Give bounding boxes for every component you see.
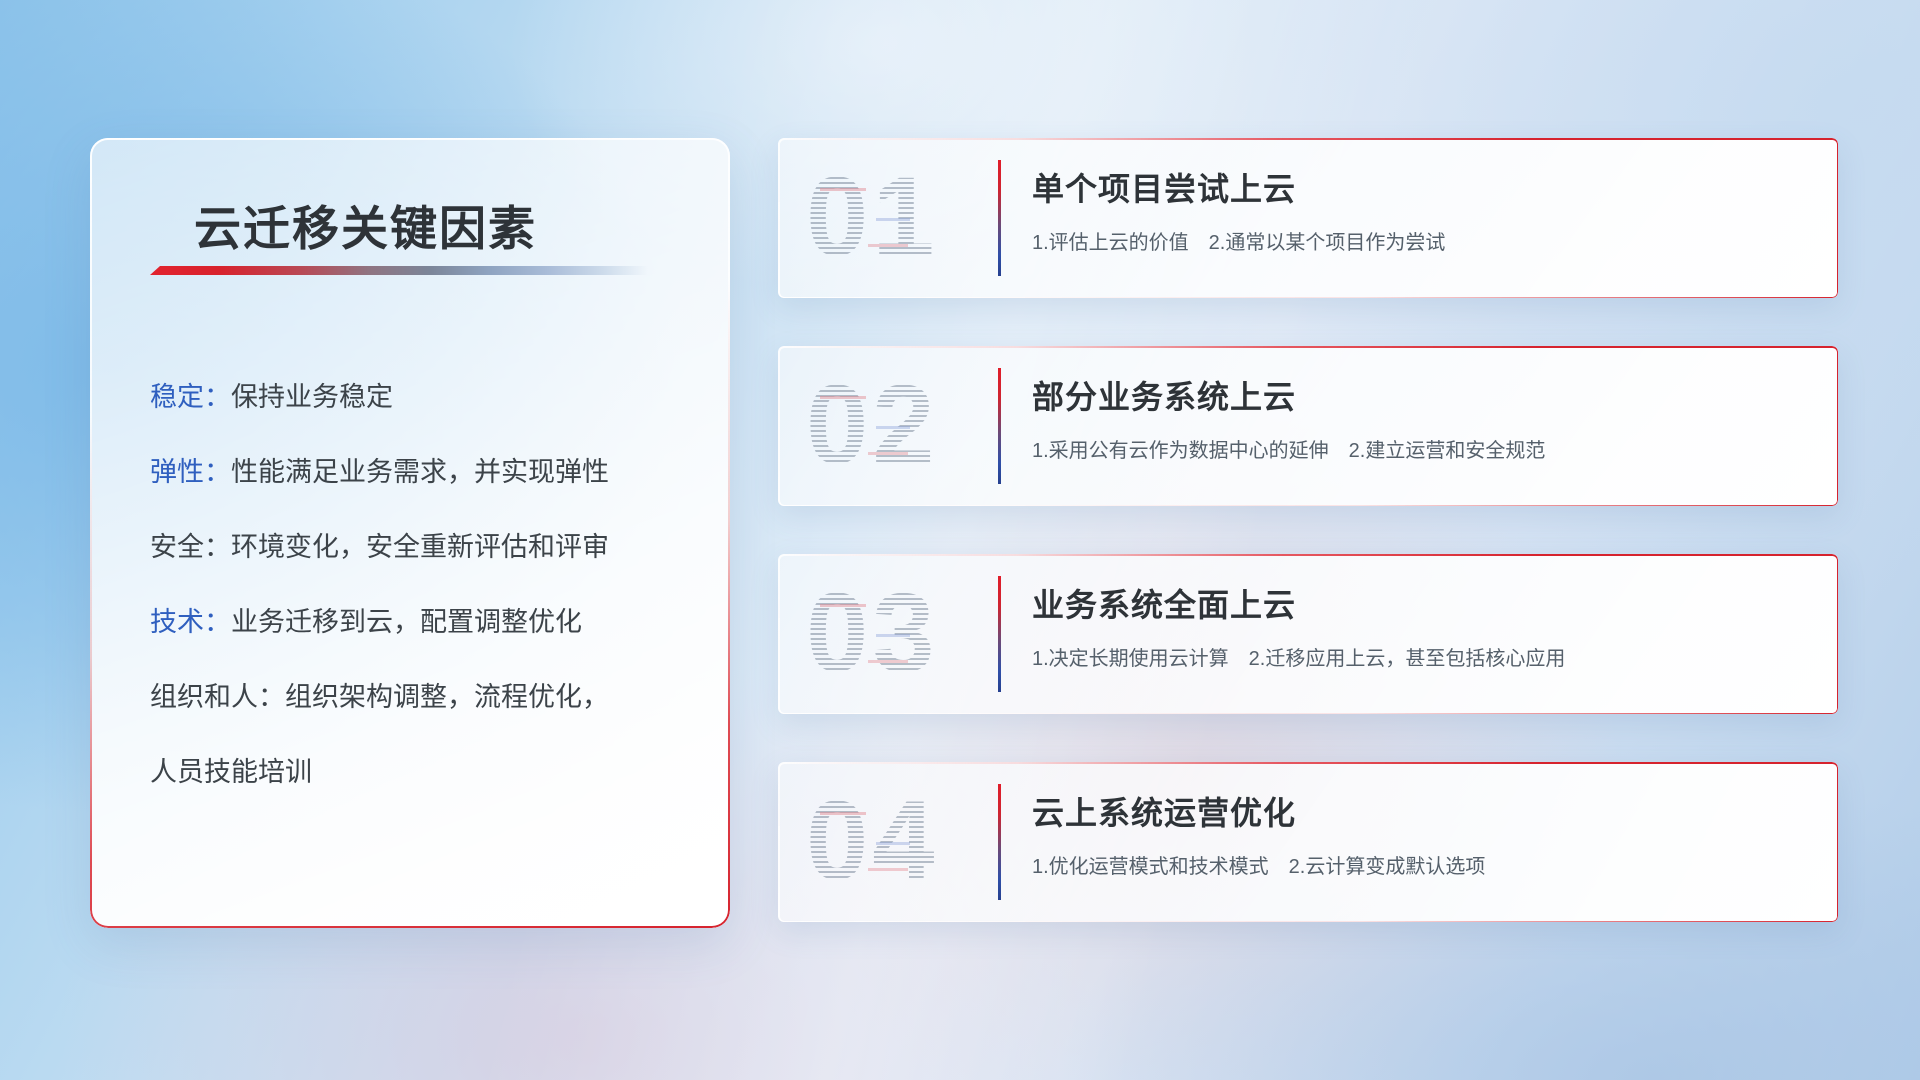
key-factor-text: 性能满足业务需求，并实现弹性 [231, 457, 609, 487]
migration-step-card[interactable]: 03业务系统全面上云1.决定长期使用云计算 2.迁移应用上云，甚至包括核心应用 [778, 554, 1838, 714]
key-factor-label: 弹性： [150, 457, 231, 487]
key-factor-label: 安全： [150, 532, 231, 562]
key-factor-row: 人员技能培训 [150, 735, 680, 810]
key-factor-text: 环境变化，安全重新评估和评审 [231, 532, 609, 562]
key-factor-text: 业务迁移到云，配置调整优化 [231, 607, 582, 637]
step-divider-bar [998, 784, 1001, 900]
step-divider-bar [998, 576, 1001, 692]
step-description: 1.评估上云的价值 2.通常以某个项目作为尝试 [1032, 226, 1445, 255]
watermark-red-glitch-2 [868, 244, 908, 247]
step-divider-bar [998, 368, 1001, 484]
key-factor-label: 稳定： [150, 382, 231, 412]
key-factor-label: 技术： [150, 607, 231, 637]
step-number-text: 03 [806, 568, 939, 698]
step-number-watermark: 03 [806, 568, 982, 698]
title-underline-rule [150, 266, 648, 275]
step-description: 1.决定长期使用云计算 2.迁移应用上云，甚至包括核心应用 [1032, 642, 1565, 671]
key-factors-list: 稳定：保持业务稳定弹性：性能满足业务需求，并实现弹性安全：环境变化，安全重新评估… [150, 360, 680, 810]
migration-step-card[interactable]: 02部分业务系统上云1.采用公有云作为数据中心的延伸 2.建立运营和安全规范 [778, 346, 1838, 506]
step-title: 云上系统运营优化 [1032, 788, 1296, 834]
key-factor-row: 安全：环境变化，安全重新评估和评审 [150, 510, 680, 585]
step-number-watermark: 02 [806, 360, 982, 490]
slide-stage: 云迁移关键因素 稳定：保持业务稳定弹性：性能满足业务需求，并实现弹性安全：环境变… [0, 0, 1920, 1080]
migration-step-card[interactable]: 01单个项目尝试上云1.评估上云的价值 2.通常以某个项目作为尝试 [778, 138, 1838, 298]
page-title: 云迁移关键因素 [194, 190, 537, 259]
migration-step-card[interactable]: 04云上系统运营优化1.优化运营模式和技术模式 2.云计算变成默认选项 [778, 762, 1838, 922]
watermark-red-glitch-2 [868, 452, 908, 455]
migration-steps-list: 01单个项目尝试上云1.评估上云的价值 2.通常以某个项目作为尝试02部分业务系… [778, 138, 1838, 970]
step-number-watermark: 01 [806, 152, 982, 282]
step-number-text: 01 [806, 152, 939, 282]
step-title: 部分业务系统上云 [1032, 372, 1296, 418]
step-number-text: 02 [806, 360, 939, 490]
step-description: 1.优化运营模式和技术模式 2.云计算变成默认选项 [1032, 850, 1485, 879]
step-divider-bar [998, 160, 1001, 276]
step-number-text: 04 [806, 776, 939, 906]
step-number-watermark: 04 [806, 776, 982, 906]
key-factor-label: 组织和人： [150, 682, 285, 712]
step-description: 1.采用公有云作为数据中心的延伸 2.建立运营和安全规范 [1032, 434, 1545, 463]
key-factor-text: 组织架构调整，流程优化， [285, 682, 609, 712]
key-factor-row: 稳定：保持业务稳定 [150, 360, 680, 435]
key-factor-text: 保持业务稳定 [231, 382, 393, 412]
step-title: 单个项目尝试上云 [1032, 164, 1296, 210]
key-factor-row: 技术：业务迁移到云，配置调整优化 [150, 585, 680, 660]
key-factor-row: 弹性：性能满足业务需求，并实现弹性 [150, 435, 680, 510]
key-factor-text: 人员技能培训 [150, 757, 312, 787]
watermark-red-glitch-2 [868, 660, 908, 663]
step-title: 业务系统全面上云 [1032, 580, 1296, 626]
key-factors-panel: 云迁移关键因素 稳定：保持业务稳定弹性：性能满足业务需求，并实现弹性安全：环境变… [90, 138, 730, 928]
key-factor-row: 组织和人：组织架构调整，流程优化， [150, 660, 680, 735]
watermark-red-glitch-2 [868, 868, 908, 871]
